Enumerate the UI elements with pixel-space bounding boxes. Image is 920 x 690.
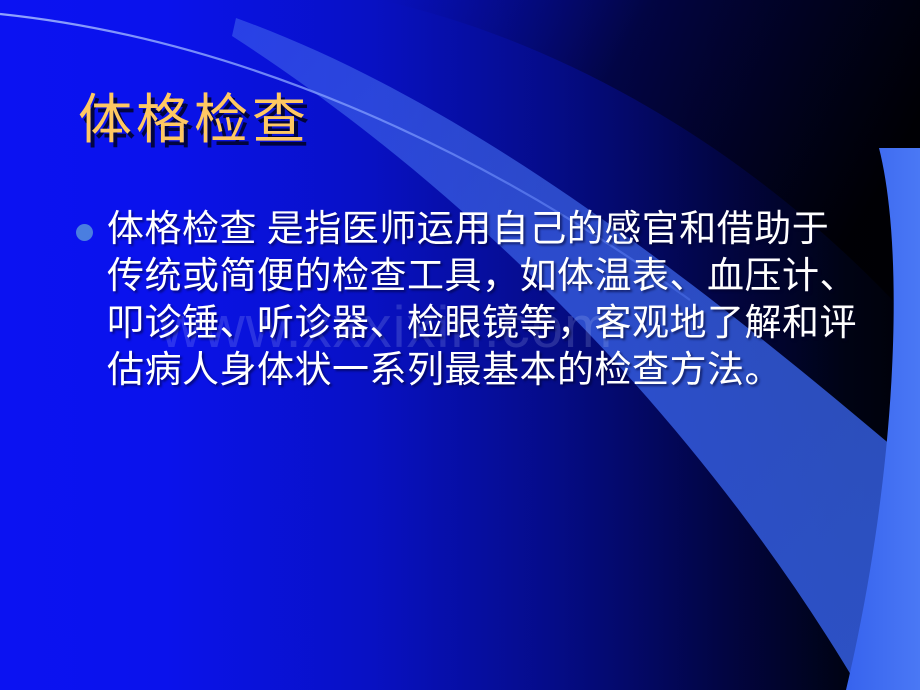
bullet-dot-icon (76, 224, 93, 241)
presentation-slide: www.xxxixin.com 体格检查 体格检查 是指医师运用自己的感官和借助… (0, 0, 920, 690)
slide-content: 体格检查 体格检查 是指医师运用自己的感官和借助于传统或简便的检查工具，如体温表… (0, 0, 920, 690)
page-title: 体格检查 (78, 88, 310, 152)
bullet-item-text: 体格检查 是指医师运用自己的感官和借助于传统或简便的检查工具，如体温表、血压计、… (107, 206, 866, 394)
bullet-list-item: 体格检查 是指医师运用自己的感官和借助于传统或简便的检查工具，如体温表、血压计、… (76, 206, 866, 394)
